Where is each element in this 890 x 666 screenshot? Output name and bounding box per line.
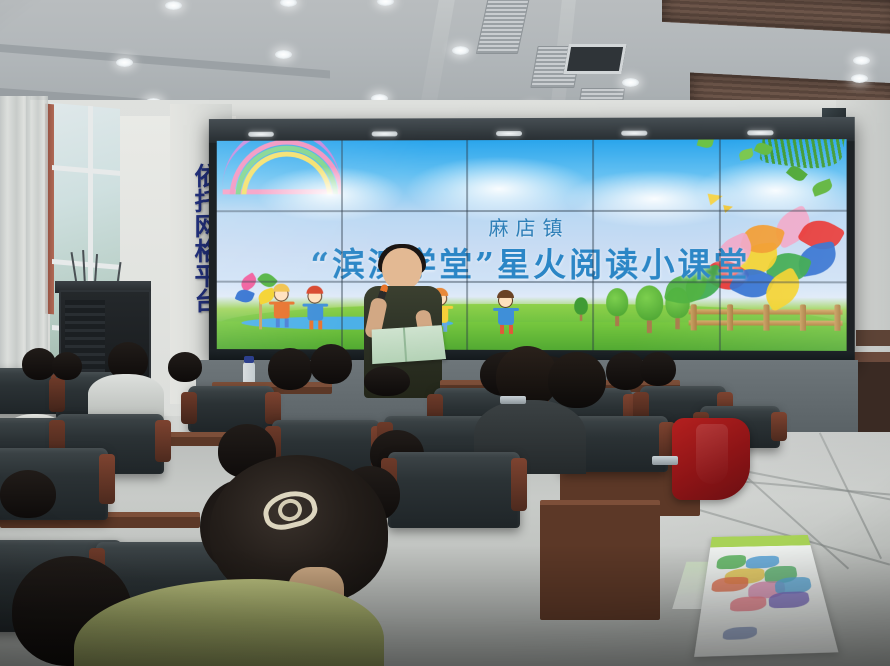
videowall-content: 麻店镇 “滨滨学堂”星火阅读小课堂 <box>217 139 847 353</box>
screen-title: “滨滨学堂”星火阅读小课堂 <box>217 237 847 285</box>
wall-light <box>621 131 647 136</box>
seat <box>388 452 520 528</box>
desk-row <box>540 500 660 620</box>
audience-shoulders <box>88 374 164 418</box>
ceiling-downlight <box>853 56 870 65</box>
presenter-head <box>382 248 422 290</box>
foreground-person <box>60 455 400 666</box>
ceiling-downlight <box>116 58 133 67</box>
bottle-cap <box>244 356 254 363</box>
leaf-graphic <box>697 139 714 149</box>
ceiling-downlight <box>452 46 469 55</box>
cartoon-child <box>498 293 514 334</box>
ceiling-downlight <box>165 1 182 10</box>
red-jacket <box>672 418 750 500</box>
bush-graphic <box>574 297 588 321</box>
ac-return-vent <box>563 44 626 74</box>
audience-head <box>364 366 410 396</box>
poster-shape <box>730 596 767 611</box>
wall-light <box>248 132 274 137</box>
leaf-graphic <box>738 148 754 161</box>
side-table-rear <box>856 330 890 346</box>
audience-head <box>548 352 606 408</box>
wall-light <box>496 131 522 136</box>
cartoon-child <box>307 289 323 330</box>
pinwheel-petal <box>235 287 255 305</box>
videowall-display-area: 麻店镇 “滨滨学堂”星火阅读小课堂 <box>217 139 847 353</box>
tablet-device[interactable] <box>652 456 678 465</box>
led-video-wall[interactable]: 麻店镇 “滨滨学堂”星火阅读小课堂 <box>209 117 855 363</box>
seat <box>188 386 274 432</box>
tree-graphic <box>606 288 628 326</box>
audience-head <box>310 344 352 384</box>
audience-head <box>22 348 56 380</box>
poster-shape <box>711 577 748 592</box>
poster-shape <box>716 555 746 569</box>
audience-head <box>268 348 312 390</box>
ceiling-downlight <box>622 78 639 87</box>
wall-light <box>747 130 773 135</box>
audience-head <box>0 470 56 518</box>
ceiling-downlight <box>851 74 868 83</box>
tree-graphic <box>636 285 664 333</box>
wall-light <box>372 131 398 136</box>
presenter-folder <box>372 325 446 364</box>
ceiling-wood-panel <box>662 0 890 34</box>
palm-leaf-graphic <box>761 139 842 167</box>
audience-head <box>640 352 676 386</box>
ac-vent <box>476 0 530 54</box>
ceiling-downlight <box>377 0 394 6</box>
poster-shape <box>768 591 811 608</box>
ceiling-beam <box>421 0 455 100</box>
poster-shape <box>723 627 758 640</box>
tablet-device[interactable] <box>500 396 526 404</box>
ceiling-downlight <box>280 0 297 7</box>
pinwheel-petal <box>257 287 277 304</box>
conference-room-photo: 依托网格平台 <box>0 0 890 666</box>
ceiling-downlight <box>275 50 292 59</box>
audience-head <box>52 352 82 380</box>
audience-head <box>168 352 202 382</box>
